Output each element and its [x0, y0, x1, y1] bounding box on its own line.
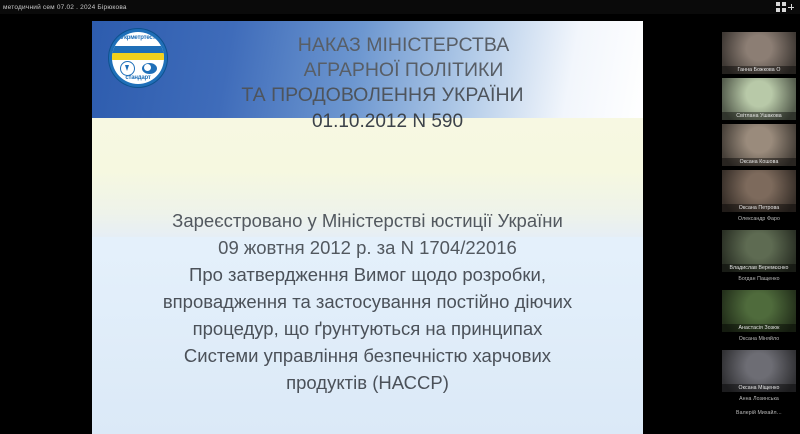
- participant-name-row[interactable]: Валерій Михайл…: [722, 410, 796, 416]
- participant-name-label: Оксана Петрова: [722, 204, 796, 213]
- participant-name-row[interactable]: Богдан Пащенко: [722, 276, 796, 282]
- registration-line-1: Зареєстровано у Міністерстві юстиції Укр…: [100, 207, 635, 234]
- subject-line-4: Системи управління безпечністю харчових: [100, 342, 635, 369]
- slide-title-line-3: ТА ПРОДОВОЛЕННЯ УКРАЇНИ: [134, 83, 631, 108]
- logo-top-text: Укрметртест: [112, 35, 164, 41]
- participant-video-tile[interactable]: Оксана Петрова: [722, 170, 796, 212]
- participant-name-label: Ганна Божкова О: [722, 66, 796, 75]
- slide-title: НАКАЗ МІНІСТЕРСТВА АГРАРНОЇ ПОЛІТИКИ ТА …: [176, 33, 631, 135]
- ukrmetrteststandart-logo: Укрметртест стандарт: [108, 28, 168, 88]
- subject-line-1: Про затвердження Вимог щодо розробки,: [100, 261, 635, 288]
- meeting-title: методичний сем 07.02 . 2024 Бірюкова: [0, 4, 127, 11]
- participant-video-rail[interactable]: Ганна Божкова ОСвітлана УшаковаОксана Ко…: [718, 14, 800, 434]
- subject-line-5: продуктів (НАССР): [100, 369, 635, 396]
- add-panel-icon[interactable]: [788, 4, 794, 10]
- slide-title-line-2: АГРАРНОЇ ПОЛІТИКИ: [176, 58, 631, 83]
- participant-video-tile[interactable]: Ганна Божкова О: [722, 32, 796, 74]
- participant-name-row[interactable]: Олександр Фаро: [722, 216, 796, 222]
- participant-video-tile[interactable]: Світлана Ушакова: [722, 78, 796, 120]
- slide-body: Зареєстровано у Міністерстві юстиції Укр…: [100, 207, 635, 396]
- participant-name-label: Світлана Ушакова: [722, 112, 796, 121]
- eye-icon: [142, 63, 157, 74]
- participant-name-label: Оксана Міщенко: [722, 384, 796, 393]
- slide-title-line-1: НАКАЗ МІНІСТЕРСТВА: [176, 33, 631, 58]
- grid-view-icon[interactable]: [776, 2, 786, 12]
- participant-video-tile[interactable]: Оксана Міщенко: [722, 350, 796, 392]
- slide-document-number: 01.10.2012 N 590: [144, 108, 631, 135]
- participant-name-label: Анастасія Зозюк: [722, 324, 796, 333]
- down-arrow-icon: [120, 61, 135, 76]
- participant-video-tile[interactable]: Анастасія Зозюк: [722, 290, 796, 332]
- meeting-title-bar: методичний сем 07.02 . 2024 Бірюкова: [0, 0, 800, 14]
- subject-line-2: впровадження та застосування постійно ді…: [100, 288, 635, 315]
- participant-video-tile[interactable]: Оксана Кошова: [722, 124, 796, 166]
- participant-name-row[interactable]: Оксана Міняйло: [722, 336, 796, 342]
- participant-name-row[interactable]: Анна Лозинська: [722, 396, 796, 402]
- participant-video-tile[interactable]: Владислав Веремєєнко: [722, 230, 796, 272]
- shared-screen-stage[interactable]: Укрметртест стандарт НАКАЗ МІНІСТЕРСТВА …: [0, 14, 718, 434]
- subject-line-3: процедур, що ґрунтуються на принципах: [100, 315, 635, 342]
- window-controls: [776, 2, 800, 12]
- registration-line-2: 09 жовтня 2012 р. за N 1704/22016: [100, 234, 635, 261]
- logo-bottom-text: стандарт: [112, 75, 164, 81]
- presentation-slide: Укрметртест стандарт НАКАЗ МІНІСТЕРСТВА …: [92, 21, 643, 434]
- participant-name-label: Оксана Кошова: [722, 158, 796, 167]
- participant-name-label: Владислав Веремєєнко: [722, 264, 796, 273]
